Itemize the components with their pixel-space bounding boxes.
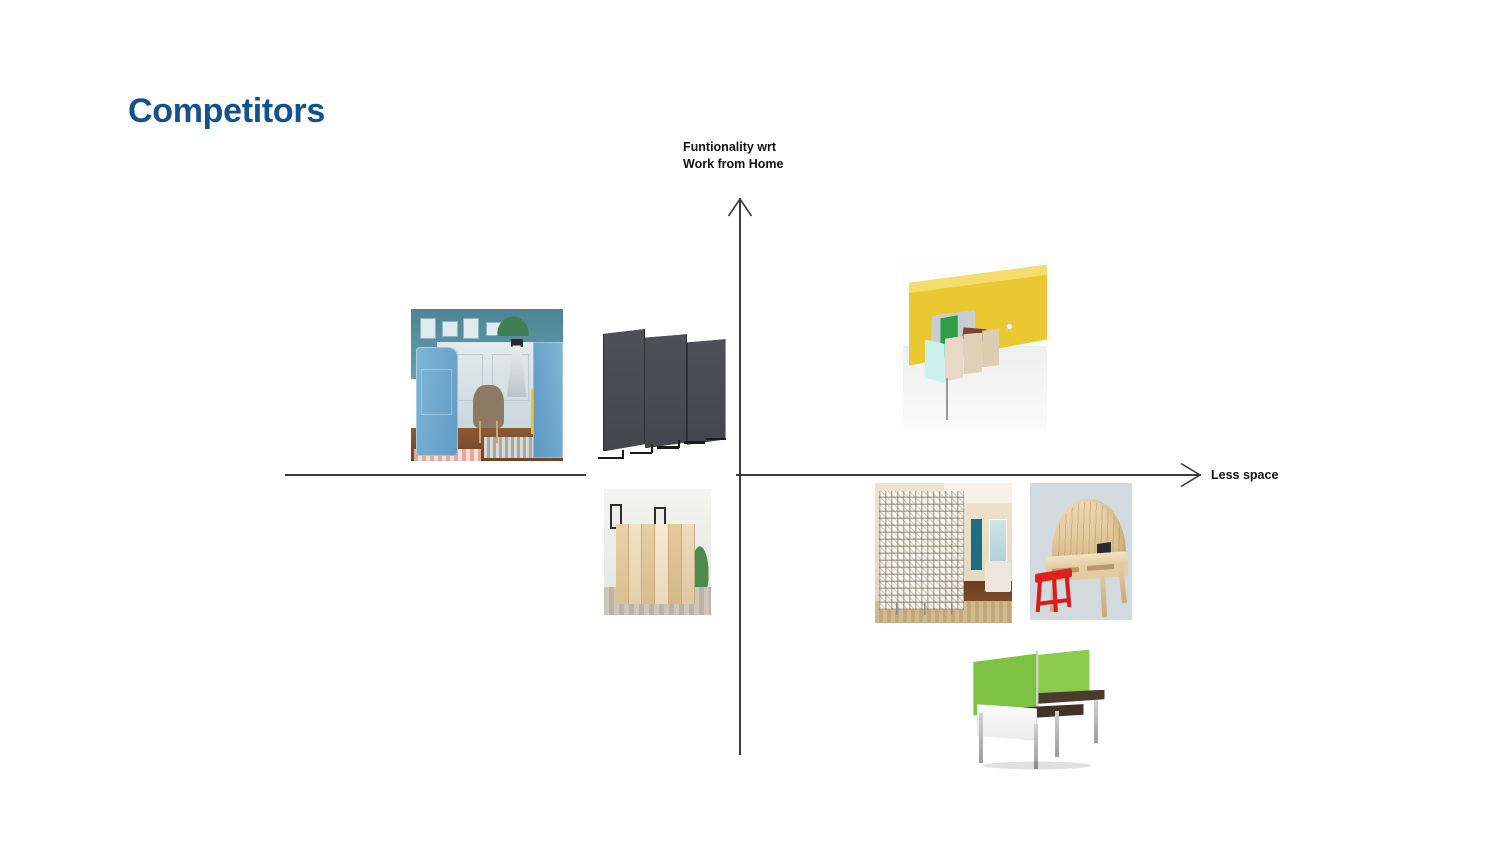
white-lattice-room-divider-image[interactable] bbox=[875, 483, 1012, 623]
panel-foot-post-3 bbox=[678, 440, 680, 449]
cyan-glass-panel bbox=[925, 340, 945, 384]
panel-foot-4 bbox=[684, 441, 705, 443]
panel-foot-5 bbox=[706, 438, 726, 440]
arrow-right-icon bbox=[1180, 462, 1202, 488]
yellow-wall-desk-pod-render-image[interactable] bbox=[903, 256, 1047, 430]
blue-divider-left bbox=[416, 347, 459, 456]
bamboo-folding-screen-image[interactable] bbox=[604, 489, 711, 615]
pod-support-leg bbox=[946, 378, 948, 420]
wooden-dome-desk-red-stool-image[interactable] bbox=[1030, 483, 1132, 620]
window bbox=[989, 519, 1007, 567]
desk-leg-1 bbox=[979, 713, 983, 762]
x-axis-label: Less space bbox=[1211, 467, 1278, 484]
floor-shadow bbox=[974, 761, 1100, 770]
panel-foot-1 bbox=[598, 457, 624, 459]
panel-foot-post-1 bbox=[622, 450, 624, 459]
felt-panel-1 bbox=[603, 329, 646, 451]
felt-panel-2 bbox=[645, 334, 687, 448]
desk-leg-3 bbox=[1055, 711, 1059, 758]
blue-padded-booth-dividers-image[interactable] bbox=[411, 309, 563, 461]
chair-legs bbox=[479, 421, 497, 442]
y-axis-line bbox=[739, 198, 741, 755]
slide-canvas: Competitors Funtionality wrt Work from H… bbox=[0, 0, 1500, 844]
folding-screen bbox=[616, 524, 695, 603]
beige-panel-2 bbox=[963, 333, 982, 375]
y-axis-label-line-2: Work from Home bbox=[683, 156, 783, 173]
panel-foot-post-2 bbox=[651, 445, 653, 454]
stool-stretcher bbox=[1037, 598, 1068, 606]
arrow-up-icon bbox=[727, 197, 753, 217]
y-axis-label-line-1: Funtionality wrt bbox=[683, 139, 783, 156]
blue-divider-right bbox=[533, 342, 563, 458]
white-modesty-panel bbox=[977, 704, 1037, 740]
x-axis-line bbox=[285, 474, 1201, 476]
plant-decoration bbox=[493, 312, 533, 336]
green-screen-back-to-back-desks-image[interactable] bbox=[962, 643, 1112, 773]
white-armchair bbox=[985, 561, 1011, 592]
grey-felt-triple-panel-divider-image[interactable] bbox=[586, 307, 736, 477]
desk-leg-4 bbox=[1094, 700, 1098, 743]
stool-leg-2 bbox=[1052, 579, 1058, 612]
panel-foot-2 bbox=[630, 452, 653, 454]
stool-leg-1 bbox=[1036, 577, 1042, 612]
wall-fixture-dot bbox=[1007, 324, 1012, 329]
page-title: Competitors bbox=[128, 92, 325, 131]
screen-divider-post bbox=[1036, 651, 1038, 710]
panel-foot-3 bbox=[657, 446, 680, 448]
felt-panel-3 bbox=[687, 339, 726, 444]
red-stool bbox=[1035, 571, 1072, 612]
doorway bbox=[971, 519, 982, 569]
desk-leg-2 bbox=[1100, 573, 1107, 617]
screen-support-legs bbox=[889, 603, 960, 614]
lattice-screen bbox=[879, 491, 964, 610]
y-axis-label: Funtionality wrt Work from Home bbox=[683, 139, 783, 173]
beige-panel-1 bbox=[945, 336, 964, 381]
beige-panel-3 bbox=[982, 329, 999, 367]
